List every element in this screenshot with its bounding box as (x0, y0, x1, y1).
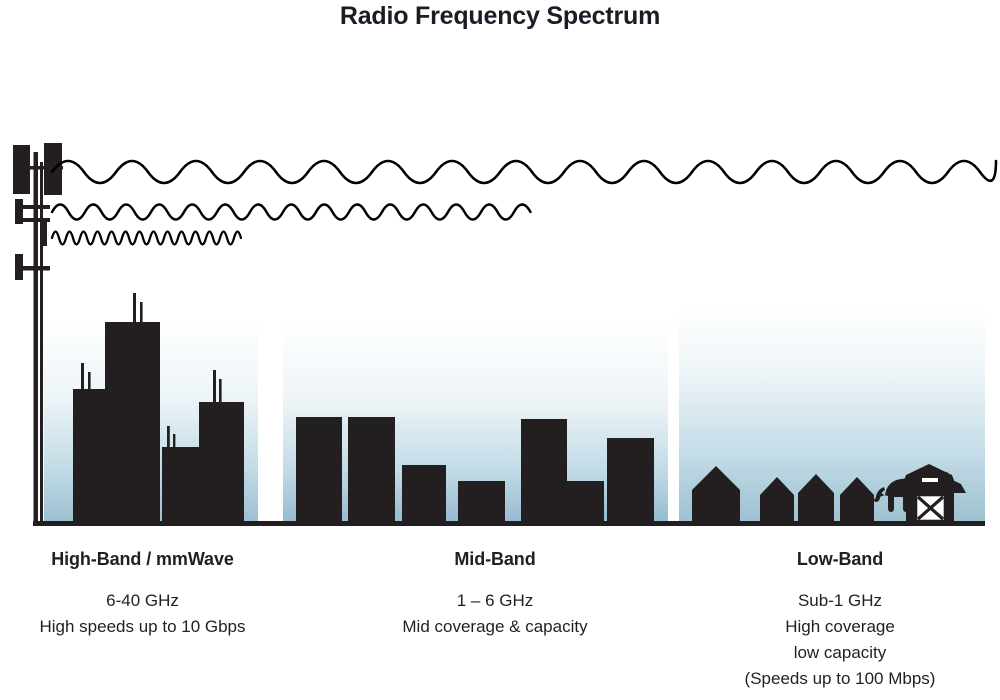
skyscraper-3-upper (199, 402, 244, 521)
skyscraper-3-upper-antenna-tall (213, 370, 216, 403)
skyscraper-3-upper-antenna-short (219, 379, 222, 403)
mid-building-4 (458, 481, 505, 521)
skyscraper-2 (105, 322, 160, 521)
skyscraper-3-lower (162, 447, 205, 521)
barn-hayloft-window (922, 478, 938, 482)
skyscraper-3-antenna-short (173, 434, 175, 448)
wave-medium-wavelength (52, 205, 531, 220)
mid-building-2 (348, 417, 395, 521)
ground-line (33, 521, 985, 526)
skyscraper-2-antenna-tall (133, 293, 136, 323)
mid-building-5 (521, 419, 567, 521)
tower-crossarm-4 (15, 266, 50, 271)
tower-crossarm-2 (15, 205, 50, 209)
mid-building-1 (296, 417, 342, 521)
skyscraper-3-antenna-tall (167, 426, 170, 448)
tower-antenna-panel-4 (40, 222, 47, 246)
tower-mast-right (40, 162, 43, 521)
skyscraper-1-antenna-short (88, 372, 91, 390)
radio-waves (52, 161, 996, 245)
tower-crossarm-3 (15, 218, 50, 222)
mid-building-7 (607, 438, 654, 521)
mid-building-3 (402, 465, 446, 521)
wave-long-wavelength (52, 161, 996, 183)
skyscraper-1-antenna-tall (81, 363, 84, 390)
wave-short-wavelength (52, 232, 241, 245)
mid-building-6 (567, 481, 604, 521)
skyscraper-2-antenna-short (140, 302, 143, 323)
spectrum-illustration (0, 0, 1000, 700)
infographic-root: Radio Frequency Spectrum (0, 0, 1000, 700)
